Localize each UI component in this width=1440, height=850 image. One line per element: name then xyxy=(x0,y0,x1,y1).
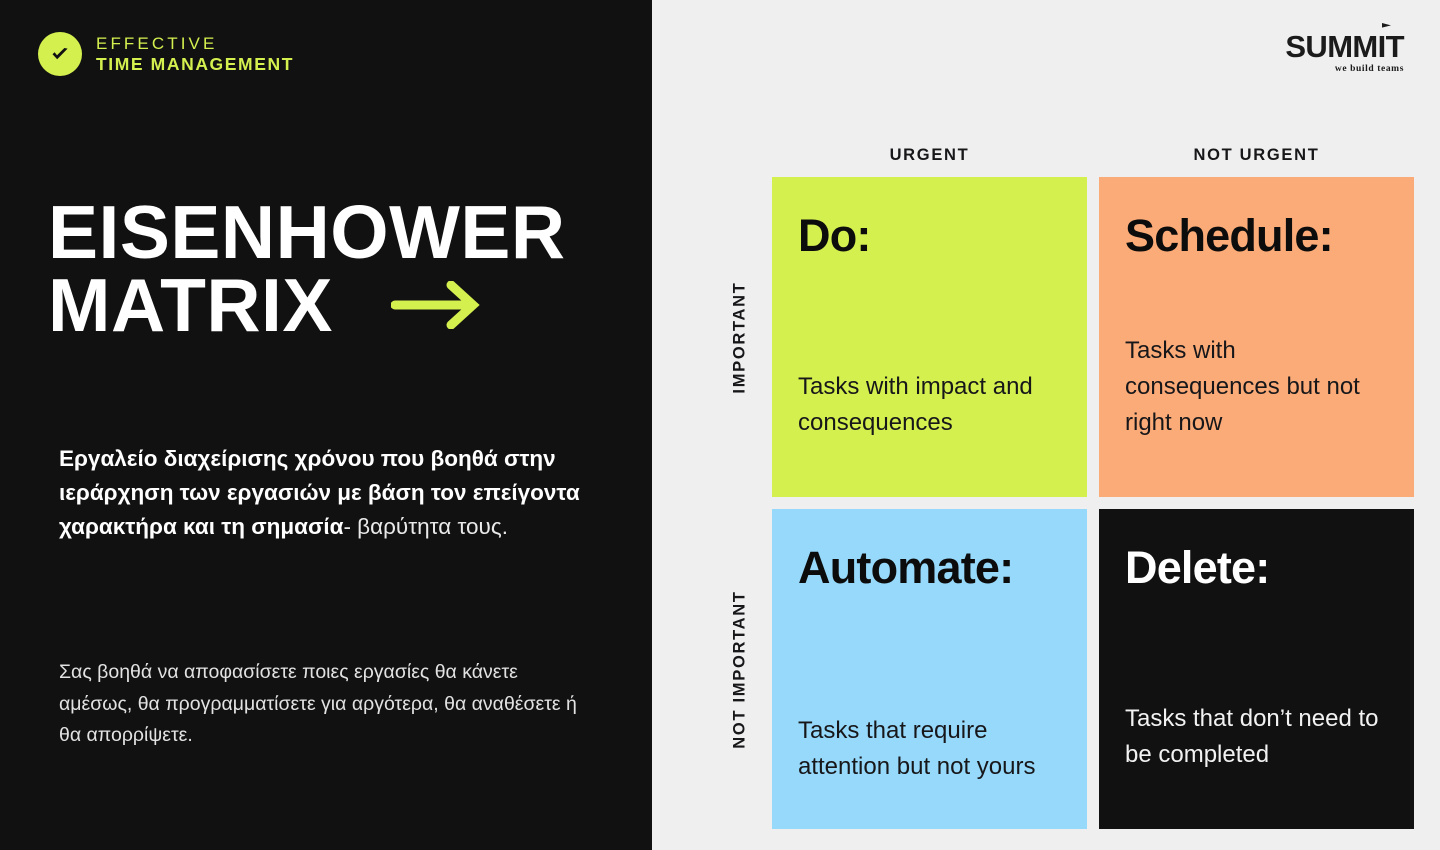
row-header-not-important-label: NOT IMPORTANT xyxy=(731,590,750,748)
arrow-right-icon xyxy=(391,281,483,329)
brand-logo-line1: EFFECTIVE xyxy=(96,34,294,54)
quadrant-schedule-title: Schedule: xyxy=(1125,213,1384,258)
quadrant-automate: Automate: Tasks that require attention b… xyxy=(772,509,1087,829)
page-title-line1: EISENHOWER xyxy=(48,196,628,269)
row-header-important: IMPORTANT xyxy=(723,177,757,497)
partner-logo-tagline: we build teams xyxy=(1285,64,1404,74)
intro-paragraph: Εργαλείο διαχείρισης χρόνου που βοηθά στ… xyxy=(59,442,619,545)
quadrant-do-title: Do: xyxy=(798,213,1057,258)
partner-logo-word: SUMMIT xyxy=(1285,31,1404,62)
quadrant-automate-body: Tasks that require attention but not you… xyxy=(798,713,1057,785)
brand-logo-text: EFFECTIVE TIME MANAGEMENT xyxy=(96,34,294,75)
left-panel: EFFECTIVE TIME MANAGEMENT EISENHOWER MAT… xyxy=(0,0,652,850)
page-title-line2-row: MATRIX xyxy=(48,269,628,342)
partner-logo: SUMMIT we build teams xyxy=(1285,31,1404,74)
column-header-not-urgent: NOT URGENT xyxy=(1099,146,1414,165)
row-header-important-label: IMPORTANT xyxy=(731,281,750,393)
intro-paragraph-tail: - βαρύτητα τους. xyxy=(343,514,508,539)
page-title-line2: MATRIX xyxy=(48,269,333,342)
quadrant-do-body: Tasks with impact and consequences xyxy=(798,369,1057,441)
quadrant-delete: Delete: Tasks that don’t need to be comp… xyxy=(1099,509,1414,829)
quadrant-schedule: Schedule: Tasks with consequences but no… xyxy=(1099,177,1414,497)
quadrant-schedule-body: Tasks with consequences but not right no… xyxy=(1125,333,1384,441)
infographic-canvas: EFFECTIVE TIME MANAGEMENT EISENHOWER MAT… xyxy=(0,0,1440,850)
check-circle-icon xyxy=(38,32,82,76)
partner-logo-wordmark: SUMMIT xyxy=(1285,29,1404,64)
row-header-not-important: NOT IMPORTANT xyxy=(723,509,757,829)
column-header-urgent: URGENT xyxy=(772,146,1087,165)
page-title: EISENHOWER MATRIX xyxy=(48,196,628,342)
brand-logo: EFFECTIVE TIME MANAGEMENT xyxy=(38,32,294,76)
brand-logo-line2: TIME MANAGEMENT xyxy=(96,54,294,75)
matrix-row-headers: IMPORTANT NOT IMPORTANT xyxy=(723,177,757,829)
quadrant-automate-title: Automate: xyxy=(798,545,1057,590)
quadrant-delete-title: Delete: xyxy=(1125,545,1384,590)
matrix-column-headers: URGENT NOT URGENT xyxy=(772,146,1414,165)
eisenhower-matrix: Do: Tasks with impact and consequences S… xyxy=(772,177,1414,829)
flag-icon xyxy=(1381,22,1393,34)
quadrant-do: Do: Tasks with impact and consequences xyxy=(772,177,1087,497)
secondary-paragraph: Σας βοηθά να αποφασίσετε ποιες εργασίες … xyxy=(59,657,579,752)
quadrant-delete-body: Tasks that don’t need to be completed xyxy=(1125,701,1384,773)
